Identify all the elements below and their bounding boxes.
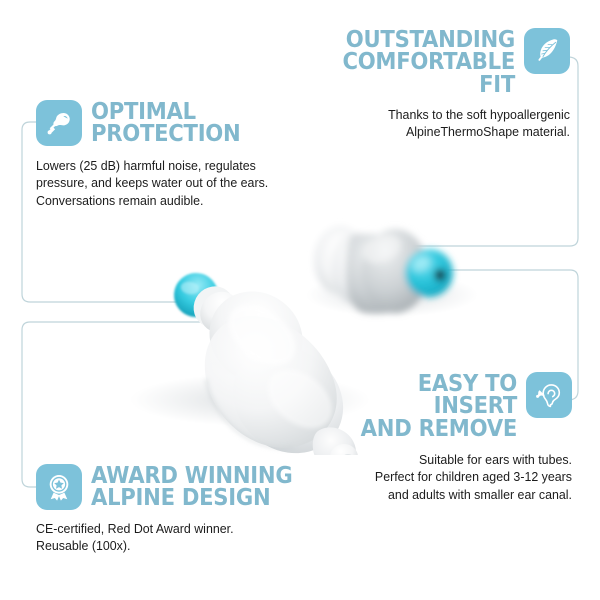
infographic-canvas: OPTIMAL PROTECTION Lowers (25 dB) harmfu… (0, 0, 600, 600)
feature-easy-to-insert-and-remove: EASY TO INSERT AND REMOVE Suitable for e… (320, 372, 572, 503)
feature-header: AWARD WINNING ALPINE DESIGN (36, 464, 336, 510)
feature-outstanding-comfortable-fit: OUTSTANDING COMFORTABLE FIT Thanks to th… (312, 28, 570, 141)
feather-icon (524, 28, 570, 74)
earplug-icon (36, 100, 82, 146)
feature-body: Suitable for ears with tubes. Perfect fo… (335, 451, 572, 503)
feature-header: OPTIMAL PROTECTION (36, 100, 326, 146)
feature-body: Thanks to the soft hypoallergenic Alpine… (327, 106, 570, 141)
feature-body: Lowers (25 dB) harmful noise, regulates … (36, 157, 309, 209)
feature-header: EASY TO INSERT AND REMOVE (320, 372, 572, 440)
feature-award-winning-alpine-design: AWARD WINNING ALPINE DESIGN CE-certified… (36, 464, 336, 555)
feature-heading: EASY TO INSERT AND REMOVE (336, 372, 517, 440)
feature-optimal-protection: OPTIMAL PROTECTION Lowers (25 dB) harmfu… (36, 100, 326, 209)
feature-header: OUTSTANDING COMFORTABLE FIT (312, 28, 570, 96)
award-rosette-icon (36, 464, 82, 510)
ear-insert-icon (526, 372, 572, 418)
feature-heading: AWARD WINNING ALPINE DESIGN (91, 464, 292, 510)
feature-body: CE-certified, Red Dot Award winner. Reus… (36, 520, 318, 555)
feature-heading: OUTSTANDING COMFORTABLE FIT (328, 28, 515, 96)
feature-heading: OPTIMAL PROTECTION (91, 100, 240, 146)
